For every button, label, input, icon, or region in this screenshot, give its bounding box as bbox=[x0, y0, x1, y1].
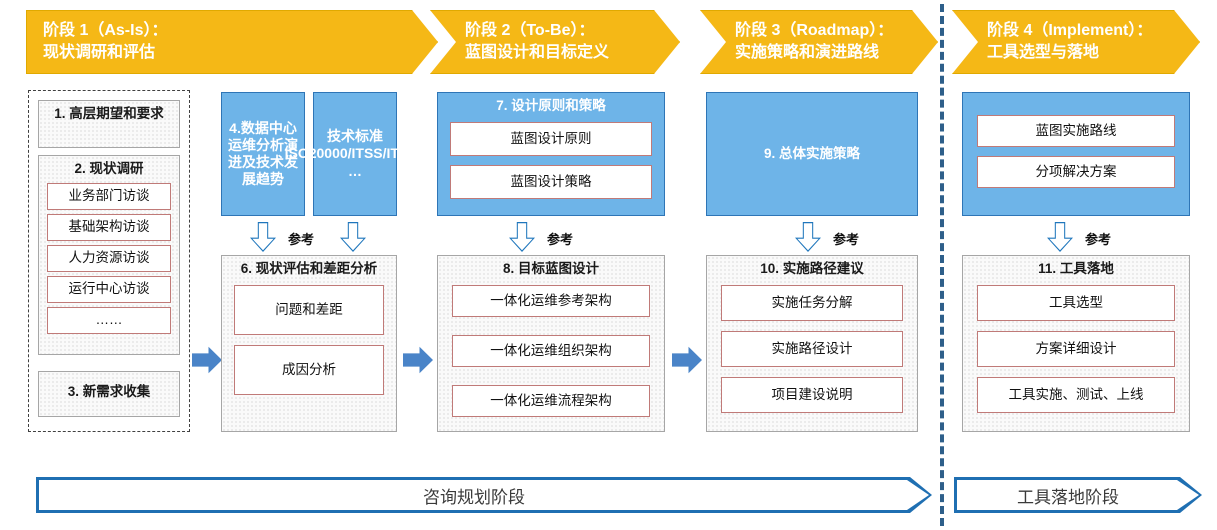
box-7-item-list: 蓝图设计原则 蓝图设计策略 bbox=[438, 118, 664, 207]
phase-banner-4: 阶段 4（Implement）： 工具选型与落地 bbox=[952, 10, 1200, 74]
reference-arrow-down-icon-2 bbox=[340, 222, 366, 252]
reference-arrow-down-icon-3 bbox=[509, 222, 535, 252]
list-item[interactable]: 业务部门访谈 bbox=[47, 183, 171, 210]
box-8-title: 8. 目标蓝图设计 bbox=[438, 256, 664, 281]
reference-arrow-down-icon-1 bbox=[250, 222, 276, 252]
phase-divider bbox=[940, 4, 944, 526]
phase-banner-3: 阶段 3（Roadmap）： 实施策略和演进路线 bbox=[700, 10, 938, 74]
box-10-implementation-path: 10. 实施路径建议 实施任务分解 实施路径设计 项目建设说明 bbox=[706, 255, 918, 432]
phase-1-line2: 现状调研和评估 bbox=[43, 42, 403, 64]
box-2-item-list: 业务部门访谈 基础架构访谈 人力资源访谈 运行中心访谈 …… bbox=[39, 181, 179, 340]
flow-arrow-right-icon-2 bbox=[403, 345, 433, 375]
box-10-item-list: 实施任务分解 实施路径设计 项目建设说明 bbox=[707, 281, 917, 421]
diagram-root: 阶段 1（As-Is）： 现状调研和评估 阶段 2（To-Be）： 蓝图设计和目… bbox=[0, 0, 1217, 530]
reference-label-3: 参考 bbox=[833, 229, 859, 248]
box-blueprint-implementation: 蓝图实施路线 分项解决方案 bbox=[962, 92, 1190, 216]
phase-2-line2: 蓝图设计和目标定义 bbox=[465, 42, 645, 64]
reference-label-4: 参考 bbox=[1085, 229, 1111, 248]
box-1-title: 1. 高层期望和要求 bbox=[39, 101, 179, 126]
phase-4-line1: 阶段 4（Implement）： bbox=[987, 20, 1165, 42]
list-item[interactable]: 项目建设说明 bbox=[721, 377, 903, 413]
phase-2-line1: 阶段 2（To-Be）： bbox=[465, 20, 645, 42]
reference-label-1: 参考 bbox=[288, 229, 314, 248]
reference-arrow-down-icon-5 bbox=[1047, 222, 1073, 252]
box-1-high-level-expectations: 1. 高层期望和要求 bbox=[38, 100, 180, 148]
list-item[interactable]: 一体化运维参考架构 bbox=[452, 285, 650, 317]
box-3-new-requirements: 3. 新需求收集 bbox=[38, 371, 180, 417]
box-9-overall-strategy: 9. 总体实施策略 bbox=[706, 92, 918, 216]
list-item[interactable]: 方案详细设计 bbox=[977, 331, 1175, 367]
box-3-title: 3. 新需求收集 bbox=[39, 372, 179, 404]
box-6-gap-analysis: 6. 现状评估和差距分析 问题和差距 成因分析 bbox=[221, 255, 397, 432]
list-item[interactable]: 问题和差距 bbox=[234, 285, 384, 335]
technical-standards-title: 技术标准ISO20000/ITSS/ITIL… … bbox=[285, 128, 426, 179]
list-item[interactable]: 人力资源访谈 bbox=[47, 245, 171, 272]
footer-banner-left-label: 咨询规划阶段 bbox=[423, 483, 545, 508]
box-6-title: 6. 现状评估和差距分析 bbox=[222, 256, 396, 281]
phase-4-line2: 工具选型与落地 bbox=[987, 42, 1165, 64]
box-9-title: 9. 总体实施策略 bbox=[764, 146, 860, 163]
box-2-title: 2. 现状调研 bbox=[39, 156, 179, 181]
phase-3-line1: 阶段 3（Roadmap）： bbox=[735, 20, 903, 42]
list-item[interactable]: 工具实施、测试、上线 bbox=[977, 377, 1175, 413]
blueprint-item-list: 蓝图实施路线 分项解决方案 bbox=[963, 93, 1189, 196]
list-item[interactable]: 实施任务分解 bbox=[721, 285, 903, 321]
list-item[interactable]: 成因分析 bbox=[234, 345, 384, 395]
list-item[interactable]: 一体化运维流程架构 bbox=[452, 385, 650, 417]
reference-arrow-down-icon-4 bbox=[795, 222, 821, 252]
flow-arrow-right-icon-1 bbox=[192, 345, 222, 375]
phase-banner-1: 阶段 1（As-Is）： 现状调研和评估 bbox=[26, 10, 438, 74]
list-item[interactable]: 蓝图实施路线 bbox=[977, 115, 1175, 147]
box-2-current-state-survey: 2. 现状调研 业务部门访谈 基础架构访谈 人力资源访谈 运行中心访谈 …… bbox=[38, 155, 180, 355]
footer-banner-tooling: 工具落地阶段 bbox=[954, 477, 1202, 513]
list-item[interactable]: 蓝图设计原则 bbox=[450, 122, 652, 156]
list-item[interactable]: 分项解决方案 bbox=[977, 156, 1175, 188]
footer-banner-right-label: 工具落地阶段 bbox=[1017, 483, 1139, 508]
footer-banner-consulting: 咨询规划阶段 bbox=[36, 477, 932, 513]
list-item[interactable]: …… bbox=[47, 307, 171, 334]
box-6-item-list: 问题和差距 成因分析 bbox=[222, 281, 396, 403]
flow-arrow-right-icon-3 bbox=[672, 345, 702, 375]
list-item[interactable]: 蓝图设计策略 bbox=[450, 165, 652, 199]
box-11-title: 11. 工具落地 bbox=[963, 256, 1189, 281]
box-7-title: 7. 设计原则和策略 bbox=[438, 93, 664, 118]
box-7-design-principles: 7. 设计原则和策略 蓝图设计原则 蓝图设计策略 bbox=[437, 92, 665, 216]
list-item[interactable]: 工具选型 bbox=[977, 285, 1175, 321]
box-8-item-list: 一体化运维参考架构 一体化运维组织架构 一体化运维流程架构 bbox=[438, 281, 664, 425]
phase-banner-2: 阶段 2（To-Be）： 蓝图设计和目标定义 bbox=[430, 10, 680, 74]
phase-1-line1: 阶段 1（As-Is）： bbox=[43, 20, 403, 42]
box-10-title: 10. 实施路径建议 bbox=[707, 256, 917, 281]
box-11-tool-landing: 11. 工具落地 工具选型 方案详细设计 工具实施、测试、上线 bbox=[962, 255, 1190, 432]
list-item[interactable]: 基础架构访谈 bbox=[47, 214, 171, 241]
phase-3-line2: 实施策略和演进路线 bbox=[735, 42, 903, 64]
box-8-target-blueprint: 8. 目标蓝图设计 一体化运维参考架构 一体化运维组织架构 一体化运维流程架构 bbox=[437, 255, 665, 432]
list-item[interactable]: 实施路径设计 bbox=[721, 331, 903, 367]
list-item[interactable]: 一体化运维组织架构 bbox=[452, 335, 650, 367]
box-11-item-list: 工具选型 方案详细设计 工具实施、测试、上线 bbox=[963, 281, 1189, 421]
column-1-container: 1. 高层期望和要求 2. 现状调研 业务部门访谈 基础架构访谈 人力资源访谈 … bbox=[28, 90, 190, 432]
list-item[interactable]: 运行中心访谈 bbox=[47, 276, 171, 303]
reference-label-2: 参考 bbox=[547, 229, 573, 248]
box-technical-standards: 技术标准ISO20000/ITSS/ITIL… … bbox=[313, 92, 397, 216]
